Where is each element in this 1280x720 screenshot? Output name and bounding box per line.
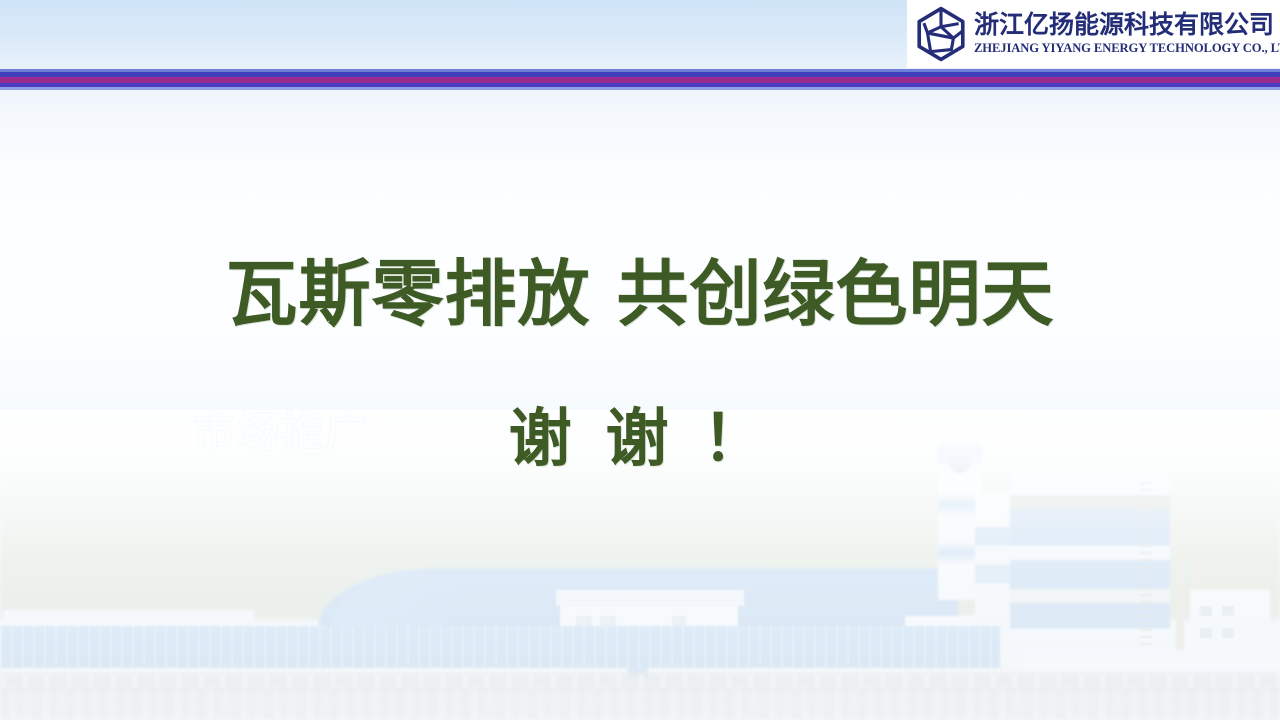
photo-building-window <box>1222 628 1234 638</box>
photo-building-window <box>1200 606 1212 616</box>
stripe-segment <box>0 87 1280 90</box>
decorative-stripe-bar <box>0 69 1280 90</box>
photo-building-window <box>1222 606 1234 616</box>
photo-building-window <box>1200 628 1212 638</box>
photo-storage-yard <box>0 688 1280 720</box>
company-name-english: ZHEJIANG YIYANG ENERGY TECHNOLOGY CO., L… <box>974 41 1280 56</box>
photo-lattice-tower <box>1140 482 1152 650</box>
presentation-slide: 市场推广 浙江亿扬能源科技有限公司 ZHEJIANG YIYANG ENERGY… <box>0 0 1280 720</box>
company-logo-text: 浙江亿扬能源科技有限公司 ZHEJIANG YIYANG ENERGY TECH… <box>974 12 1280 56</box>
slide-thanks-text: 谢 谢 ！ <box>0 407 1280 470</box>
hexagon-crystal-logo-icon <box>915 6 967 62</box>
company-logo-header: 浙江亿扬能源科技有限公司 ZHEJIANG YIYANG ENERGY TECH… <box>907 0 1280 68</box>
photo-exhaust-stack <box>1176 550 1184 650</box>
slide-headline: 瓦斯零排放 共创绿色明天 <box>0 258 1280 330</box>
photo-office-ribbed-roof <box>556 590 744 606</box>
company-name-chinese: 浙江亿扬能源科技有限公司 <box>974 12 1280 38</box>
photo-road-markings <box>0 674 1280 688</box>
photo-pipe-rack-texture <box>0 626 1000 668</box>
